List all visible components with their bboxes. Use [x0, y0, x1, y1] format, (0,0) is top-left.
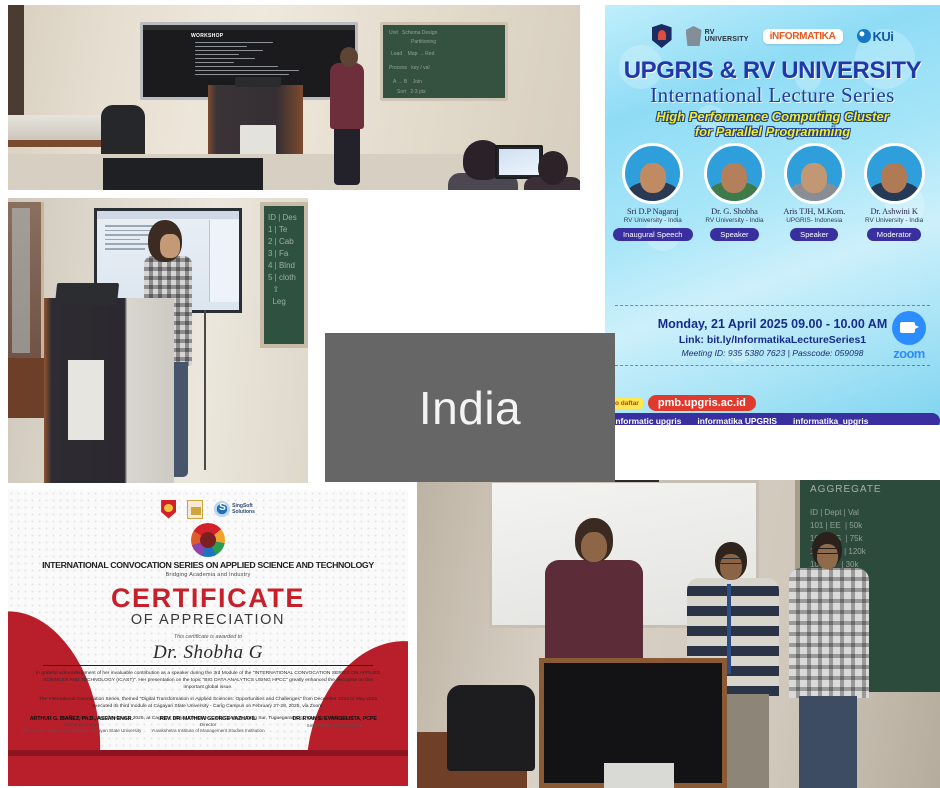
signatory-org: Singsoft Pte. Ltd Singapore [274, 723, 396, 729]
screen-bullet-lines [195, 42, 325, 78]
speaker-card: Sri D.P Nagaraj RV University - India In… [613, 143, 693, 242]
person-3-legs [799, 696, 857, 788]
window-curtain [8, 202, 44, 367]
presenter-legs [334, 127, 360, 185]
poster-subtitle-line2: for Parallel Programming [605, 124, 940, 139]
image-collage: Unit Schema Design Partitioning Load Map… [0, 0, 940, 788]
student-laptop [495, 145, 543, 179]
poster-subtitle-line1: High Performance Computing Cluster [605, 109, 940, 124]
registration-row: o daftar pmb.upgris.ac.id [605, 395, 940, 411]
certificate-series-title: INTERNATIONAL CONVOCATION SERIES ON APPL… [8, 560, 408, 570]
green-chalkboard: Unit Schema Design Partitioning Load Map… [380, 22, 508, 101]
rv-logo-line2: UNIVERSITY [705, 36, 749, 44]
door-frame [8, 5, 24, 117]
convocation-seal-icon [191, 523, 225, 557]
certificate-paragraph-2: The International Convocation Series, th… [34, 696, 382, 710]
avatar [622, 143, 683, 204]
green-chalkboard: ID | Des1 | Te2 | Cab3 | Fa4 | Blnd5 | c… [260, 202, 308, 348]
front-table [103, 158, 263, 190]
name-underline [43, 665, 373, 666]
event-link: Link: bit.ly/InformatikaLectureSeries1 [605, 334, 940, 346]
event-date: Monday, 21 April 2025 09.00 - 10.00 AM [605, 317, 940, 331]
signatory-name: DR. RYAN S. EVANGELISTA, PCPE [274, 716, 396, 722]
poster-title-line1: UPGRIS & RV UNIVERSITY [605, 57, 940, 85]
signatory-name: ARTHUR G. IBAÑEZ, Ph.D., ASEAN ENGR. [20, 716, 142, 722]
presenter-head [340, 47, 358, 67]
avatar [784, 143, 845, 204]
person-1-torso [545, 560, 643, 670]
rv-crest-icon [686, 26, 702, 46]
person-2-lanyard [727, 584, 731, 674]
certificate-subheading: OF APPRECIATION [8, 612, 408, 628]
country-label-overlay: India [325, 333, 615, 482]
kui-logo-label: KUi [873, 29, 894, 44]
person-3-torso [789, 568, 869, 698]
speaker-card: Aris TJH, M.Kom. UPGRIS- Indonesia Speak… [776, 143, 852, 242]
podium-laptop [55, 283, 119, 305]
rv-university-logo: RV UNIVERSITY [686, 26, 749, 46]
video-camera-icon [892, 311, 926, 345]
presenter-torso [330, 63, 364, 129]
signatory-block: DR. RYAN S. EVANGELISTA, PCPE Singsoft P… [274, 716, 396, 735]
person-1-face [581, 532, 607, 562]
kui-logo: KUi [857, 29, 894, 44]
office-chair [447, 685, 535, 771]
lectern-podium [44, 298, 174, 483]
speaker-role-badge: Moderator [867, 228, 922, 241]
avatar [704, 143, 765, 204]
speaker-card: Dr. G. Shobha RV University - India Spea… [697, 143, 773, 242]
awarded-to-label: This certificate is awarded to [8, 634, 408, 640]
certificate-heading: CERTIFICATE [8, 583, 408, 614]
student-2-head [538, 151, 568, 185]
signatory-org: Yuvakshetra Institute of Management Stud… [147, 728, 269, 734]
screen-title-text: WORKSHOP [191, 33, 223, 39]
rv-shield-icon [652, 24, 672, 48]
speaker-affiliation: RV University - India [613, 217, 693, 224]
globe-icon [857, 29, 871, 43]
poster-lecture-series: RV UNIVERSITY iNFORMATIKA KUi UPGRIS & R… [605, 5, 940, 425]
signatory-block: REV. DR. MATHEW GEORGE VAZHAYIL Director… [147, 716, 269, 735]
poster-title-line2: International Lecture Series [605, 83, 940, 108]
speaker-affiliation: RV University - India [697, 217, 773, 224]
certificate-paragraph-1: In grateful acknowledgment of her invalu… [34, 670, 382, 691]
event-details: Monday, 21 April 2025 09.00 - 10.00 AM L… [605, 317, 940, 358]
certificate-appreciation: SingSoftSolutions INTERNATIONAL CONVOCAT… [8, 490, 408, 786]
speaker-list: Sri D.P Nagaraj RV University - India In… [613, 143, 932, 242]
poster-logo-row: RV UNIVERSITY iNFORMATIKA KUi [605, 18, 940, 54]
zoom-logo: zoom [892, 311, 926, 361]
registration-prefix: o daftar [611, 398, 643, 409]
gold-crest-icon [187, 500, 203, 519]
speaker-role-badge: Speaker [790, 228, 838, 241]
photo-student-podium: ID | Des1 | Te2 | Cab3 | Fa4 | Blnd5 | c… [8, 198, 308, 483]
speaker-name: Dr. Ashwini K [856, 207, 932, 216]
speaker-card: Dr. Ashwini K RV University - India Mode… [856, 143, 932, 242]
social-handles-bar: informatic upgris informatika UPGRIS inf… [605, 413, 940, 425]
divider [615, 365, 930, 366]
speaker-name: Dr. G. Shobha [697, 207, 773, 216]
chalkboard-heading: AGGREGATE [810, 484, 882, 495]
speaker-affiliation: UPGRIS- Indonesia [776, 217, 852, 224]
country-label-text: India [419, 381, 521, 435]
social-handle-whatsapp[interactable]: informatic upgris [613, 416, 681, 425]
csu-shield-icon [161, 500, 176, 519]
photo-group-three: AGGREGATE ID | Dept | Val 101 | EE | 50k… [417, 480, 940, 788]
wooden-shelf [8, 358, 48, 418]
hanging-cable [204, 310, 206, 470]
certificate-logo-row: SingSoftSolutions [8, 496, 408, 522]
meeting-credentials: Meeting ID: 935 5380 7623 | Passcode: 05… [605, 348, 940, 358]
lectern-podium [539, 658, 727, 788]
signatory-org: Office of the University President Cagay… [20, 728, 142, 734]
signatory-block: ARTHUR G. IBAÑEZ, Ph.D., ASEAN ENGR. Off… [20, 716, 142, 735]
certificate-tagline: Bridging Academia and Industry [8, 572, 408, 578]
recipient-name: Dr. Shobha G [8, 642, 408, 664]
avatar [864, 143, 925, 204]
social-handle-instagram[interactable]: informatika_upgris [793, 416, 868, 425]
photo-classroom-lecture: Unit Schema Design Partitioning Load Map… [8, 5, 580, 190]
signatory-name: REV. DR. MATHEW GEORGE VAZHAYIL [147, 716, 269, 722]
informatika-logo: iNFORMATIKA [763, 29, 843, 44]
singsoft-swirl-icon [214, 501, 230, 517]
speaker-name: Sri D.P Nagaraj [613, 207, 693, 216]
rv-logo-line1: RV [705, 29, 749, 37]
person-3-glasses [815, 548, 839, 554]
singsoft-logo: SingSoftSolutions [214, 501, 255, 517]
social-handle-youtube[interactable]: informatika UPGRIS [697, 416, 777, 425]
speaker-role-badge: Speaker [710, 228, 758, 241]
speaker-name: Aris TJH, M.Kom. [776, 207, 852, 216]
divider [615, 305, 930, 306]
registration-url[interactable]: pmb.upgris.ac.id [648, 395, 756, 411]
person-2-glasses [719, 558, 743, 564]
presenter-face [160, 234, 180, 258]
speaker-role-badge: Inaugural Speech [613, 228, 693, 241]
speaker-affiliation: RV University - India [856, 217, 932, 224]
zoom-label: zoom [892, 346, 926, 361]
certificate-bottom-band [8, 756, 408, 786]
poster-subtitle: High Performance Computing Cluster for P… [605, 109, 940, 139]
signatory-row: ARTHUR G. IBAÑEZ, Ph.D., ASEAN ENGR. Off… [8, 716, 408, 735]
